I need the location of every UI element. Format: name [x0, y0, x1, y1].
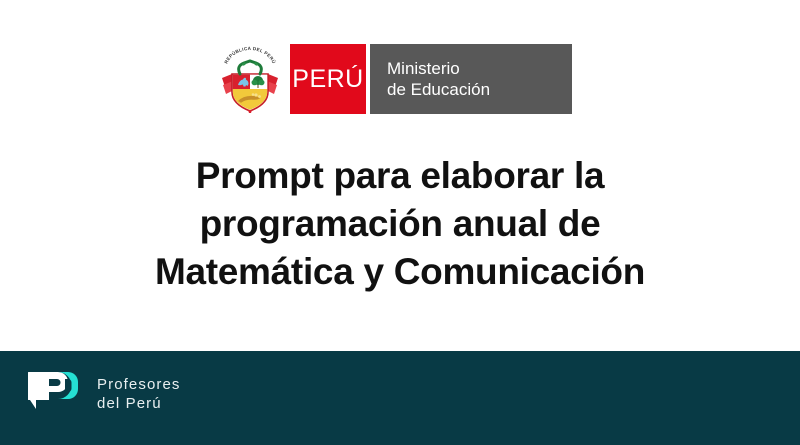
title-line-1: Prompt para elaborar la	[0, 152, 800, 200]
page-title: Prompt para elaborar la programación anu…	[0, 152, 800, 296]
footer-bar: Profesores del Perú DESCARGA AQUÍ	[0, 351, 800, 445]
peru-label-box: PERÚ	[290, 44, 366, 114]
ministry-name-box: Ministerio de Educación	[370, 44, 572, 114]
ministry-line-1: Ministerio	[387, 58, 572, 79]
peru-coat-of-arms-icon: REPÚBLICA DEL PERÚ	[218, 44, 282, 114]
profesores-del-peru-logo-icon	[28, 369, 86, 419]
brand-line-2: del Perú	[97, 394, 181, 413]
promo-slide: REPÚBLICA DEL PERÚ	[0, 0, 800, 445]
footer-inner: Profesores del Perú DESCARGA AQUÍ	[0, 351, 800, 445]
title-line-3: Matemática y Comunicación	[0, 248, 800, 296]
ministry-line-2: de Educación	[387, 79, 572, 100]
ministry-logo-lockup: REPÚBLICA DEL PERÚ	[218, 44, 572, 114]
brand-lockup[interactable]: Profesores del Perú	[28, 369, 181, 419]
brand-line-1: Profesores	[97, 375, 181, 394]
brand-text: Profesores del Perú	[97, 375, 181, 413]
peru-label: PERÚ	[292, 65, 363, 94]
title-line-2: programación anual de	[0, 200, 800, 248]
